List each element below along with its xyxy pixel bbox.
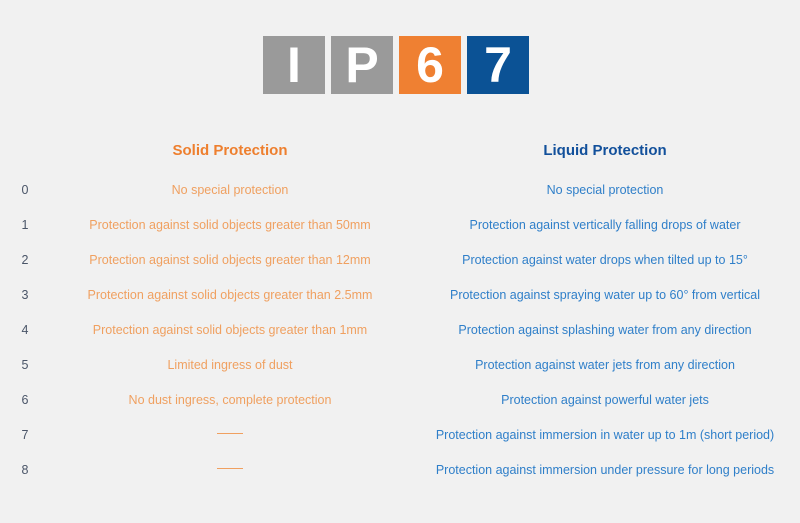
row-solid-protection: Limited ingress of dust — [50, 358, 410, 372]
column-header-solid-protection: Solid Protection — [50, 142, 410, 159]
logo-tile-p: P — [331, 36, 393, 94]
column-header-liquid-protection: Liquid Protection — [410, 142, 800, 159]
row-solid-protection: Protection against solid objects greater… — [50, 253, 410, 267]
table-row: 7 Protection against immersion in water … — [0, 417, 800, 452]
logo-tile-6: 6 — [399, 36, 461, 94]
ip-rating-chart: I P 6 7 Solid Protection Liquid Protecti… — [0, 0, 800, 523]
row-number: 3 — [0, 288, 50, 302]
table-row: 2 Protection against solid objects great… — [0, 242, 800, 277]
row-liquid-protection: No special protection — [410, 183, 800, 197]
row-number: 6 — [0, 393, 50, 407]
row-solid-protection: Protection against solid objects greater… — [50, 323, 410, 337]
row-solid-protection: Protection against solid objects greater… — [50, 218, 410, 232]
table-row: 1 Protection against solid objects great… — [0, 207, 800, 242]
logo-tile-i: I — [263, 36, 325, 94]
row-number: 2 — [0, 253, 50, 267]
row-liquid-protection: Protection against immersion in water up… — [410, 428, 800, 442]
empty-dash-icon — [217, 433, 243, 434]
row-liquid-protection: Protection against water jets from any d… — [410, 358, 800, 372]
table-row: 8 Protection against immersion under pre… — [0, 452, 800, 487]
row-solid-protection: No special protection — [50, 183, 410, 197]
row-liquid-protection: Protection against immersion under press… — [410, 463, 800, 477]
row-liquid-protection: Protection against splashing water from … — [410, 323, 800, 337]
row-number: 4 — [0, 323, 50, 337]
row-liquid-protection: Protection against vertically falling dr… — [410, 218, 800, 232]
row-liquid-protection: Protection against spraying water up to … — [410, 288, 800, 302]
table-row: 4 Protection against solid objects great… — [0, 312, 800, 347]
table-row: 3 Protection against solid objects great… — [0, 277, 800, 312]
logo-tile-7: 7 — [467, 36, 529, 94]
row-number: 8 — [0, 463, 50, 477]
row-number: 7 — [0, 428, 50, 442]
row-solid-protection — [50, 428, 410, 442]
empty-dash-icon — [217, 468, 243, 469]
row-number: 5 — [0, 358, 50, 372]
row-solid-protection: No dust ingress, complete protection — [50, 393, 410, 407]
table-row: 0 No special protection No special prote… — [0, 172, 800, 207]
table-header-row: Solid Protection Liquid Protection — [0, 128, 800, 172]
row-solid-protection: Protection against solid objects greater… — [50, 288, 410, 302]
row-liquid-protection: Protection against powerful water jets — [410, 393, 800, 407]
table-row: 6 No dust ingress, complete protection P… — [0, 382, 800, 417]
table-row: 5 Limited ingress of dust Protection aga… — [0, 347, 800, 382]
row-liquid-protection: Protection against water drops when tilt… — [410, 253, 800, 267]
ip-rating-table: Solid Protection Liquid Protection 0 No … — [0, 128, 800, 487]
row-number: 0 — [0, 183, 50, 197]
row-number: 1 — [0, 218, 50, 232]
row-solid-protection — [50, 463, 410, 477]
ip67-rating-logo: I P 6 7 — [263, 36, 529, 94]
